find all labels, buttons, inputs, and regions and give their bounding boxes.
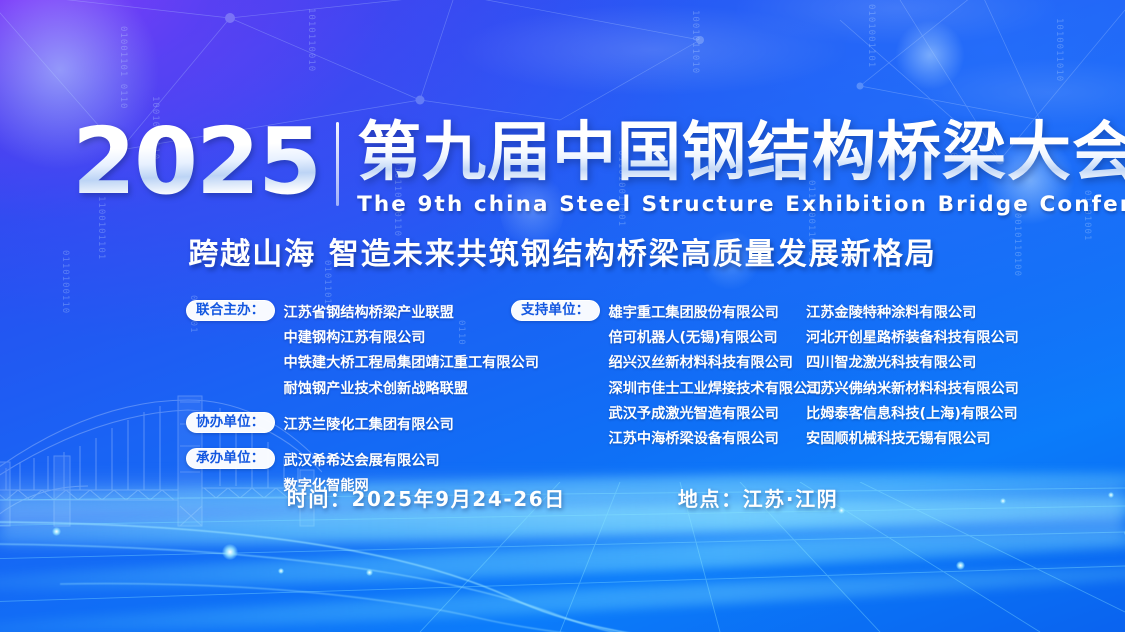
conference-banner: 01001101 0110 1001011010 0110100110 1100… [0,0,1125,632]
list-item: 中铁建大桥工程局集团靖江重工有限公司 [284,351,539,376]
list-item: 武汉希希达会展有限公司 [284,449,440,474]
organizer-group: 协办单位： 江苏兰陵化工集团有限公司 [186,412,539,438]
organizer-column-2: 支持单位： 雄宇重工集团股份有限公司 倍可机器人(无锡)有限公司 绍兴汉丝新材料… [511,300,821,452]
status-badge: 承办单位： [186,448,275,469]
list-item: 耐蚀钢产业技术创新战略联盟 [284,377,539,402]
organizer-column-1: 联合主办： 江苏省钢结构桥梁产业联盟 中建钢构江苏有限公司 中铁建大桥工程局集团… [186,300,539,499]
list-item: 武汉予成激光智造有限公司 [609,402,822,427]
list-item: 绍兴汉丝新材料科技有限公司 [609,351,822,376]
page-subtitle-en: The 9th china Steel Structure Exhibition… [357,192,1125,218]
page-title: 第九届中国钢结构桥梁大会 [357,116,1125,190]
status-badge: 支持单位： [511,300,600,321]
organizer-list: 江苏兰陵化工集团有限公司 [284,412,454,438]
organizer-list: 江苏金陵特种涂料有限公司 河北开创星路桥装备科技有限公司 四川智龙激光科技有限公… [806,300,1019,452]
conference-slogan: 跨越山海 智造未来共筑钢结构桥梁高质量发展新格局 [0,236,1125,274]
year-2025: 2025 [72,116,336,208]
banner-title-block: 2025 第九届中国钢结构桥梁大会 The 9th china Steel St… [72,116,1125,218]
organizer-list: 雄宇重工集团股份有限公司 倍可机器人(无锡)有限公司 绍兴汉丝新材料科技有限公司… [609,300,822,452]
list-item: 江苏省钢结构桥梁产业联盟 [284,301,539,326]
list-item: 河北开创星路桥装备科技有限公司 [806,326,1019,351]
organizer-group: 支持单位： 雄宇重工集团股份有限公司 倍可机器人(无锡)有限公司 绍兴汉丝新材料… [511,300,821,452]
list-item: 中建钢构江苏有限公司 [284,326,539,351]
event-date: 时间：2025年9月24-26日 [287,483,566,512]
organizer-group: 江苏金陵特种涂料有限公司 河北开创星路桥装备科技有限公司 四川智龙激光科技有限公… [806,300,1019,452]
list-item: 深圳市佳士工业焊接技术有限公司 [609,377,822,402]
list-item: 江苏兰陵化工集团有限公司 [284,413,454,438]
organizer-list: 江苏省钢结构桥梁产业联盟 中建钢构江苏有限公司 中铁建大桥工程局集团靖江重工有限… [284,300,539,402]
list-item: 江苏中海桥梁设备有限公司 [609,427,822,452]
list-item: 倍可机器人(无锡)有限公司 [609,326,822,351]
organizer-group: 联合主办： 江苏省钢结构桥梁产业联盟 中建钢构江苏有限公司 中铁建大桥工程局集团… [186,300,539,402]
list-item: 雄宇重工集团股份有限公司 [609,301,822,326]
event-location: 地点：江苏·江阴 [678,483,838,512]
event-meta-footer: 时间：2025年9月24-26日 地点：江苏·江阴 [0,483,1125,512]
organizer-column-3: 江苏金陵特种涂料有限公司 河北开创星路桥装备科技有限公司 四川智龙激光科技有限公… [806,300,1019,452]
list-item: 江苏金陵特种涂料有限公司 [806,301,1019,326]
list-item: 江苏兴佛纳米新材料科技有限公司 [806,377,1019,402]
list-item: 比姆泰客信息科技(上海)有限公司 [806,402,1019,427]
status-badge: 协办单位： [186,412,275,433]
list-item: 四川智龙激光科技有限公司 [806,351,1019,376]
list-item: 安固顺机械科技无锡有限公司 [806,427,1019,452]
status-badge: 联合主办： [186,300,275,321]
